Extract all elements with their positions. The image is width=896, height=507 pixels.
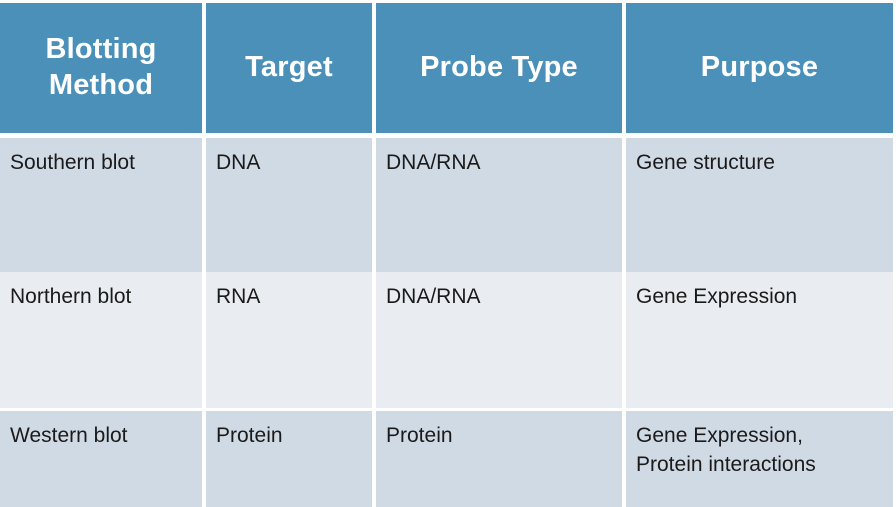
cell-probe-northern: DNA/RNA <box>374 272 624 409</box>
column-header-blotting-method-line1: Blotting <box>8 32 194 67</box>
cell-method-northern: Northern blot <box>0 272 204 409</box>
table-row: Western blot Protein Protein Gene Expres… <box>0 410 893 507</box>
column-header-blotting-method: Blotting Method <box>0 3 204 135</box>
column-header-purpose: Purpose <box>624 3 893 135</box>
cell-method-western: Western blot <box>0 410 204 507</box>
cell-probe-western: Protein <box>374 410 624 507</box>
table-container: Blotting Method Target Probe Type Purpos… <box>0 0 896 507</box>
cell-target-northern: RNA <box>204 272 374 409</box>
cell-target-western: Protein <box>204 410 374 507</box>
cell-purpose-western-line2: Protein interactions <box>636 451 883 480</box>
cell-purpose-western-line1: Gene Expression, <box>636 422 883 451</box>
column-header-blotting-method-line2: Method <box>8 68 194 103</box>
cell-purpose-southern-line1: Gene structure <box>636 149 883 178</box>
cell-purpose-western: Gene Expression, Protein interactions <box>624 410 893 507</box>
header-row: Blotting Method Target Probe Type Purpos… <box>0 3 893 135</box>
column-header-probe-type: Probe Type <box>374 3 624 135</box>
cell-purpose-northern: Gene Expression <box>624 272 893 409</box>
cell-target-southern: DNA <box>204 135 374 272</box>
cell-purpose-southern: Gene structure <box>624 135 893 272</box>
cell-probe-southern: DNA/RNA <box>374 135 624 272</box>
blotting-methods-table: Blotting Method Target Probe Type Purpos… <box>0 3 893 507</box>
table-row: Southern blot DNA DNA/RNA Gene structure <box>0 135 893 272</box>
cell-method-southern: Southern blot <box>0 135 204 272</box>
cell-purpose-northern-line1: Gene Expression <box>636 283 883 312</box>
table-body: Southern blot DNA DNA/RNA Gene structure… <box>0 135 893 507</box>
table-row: Northern blot RNA DNA/RNA Gene Expressio… <box>0 272 893 409</box>
table-header: Blotting Method Target Probe Type Purpos… <box>0 3 893 135</box>
column-header-target: Target <box>204 3 374 135</box>
